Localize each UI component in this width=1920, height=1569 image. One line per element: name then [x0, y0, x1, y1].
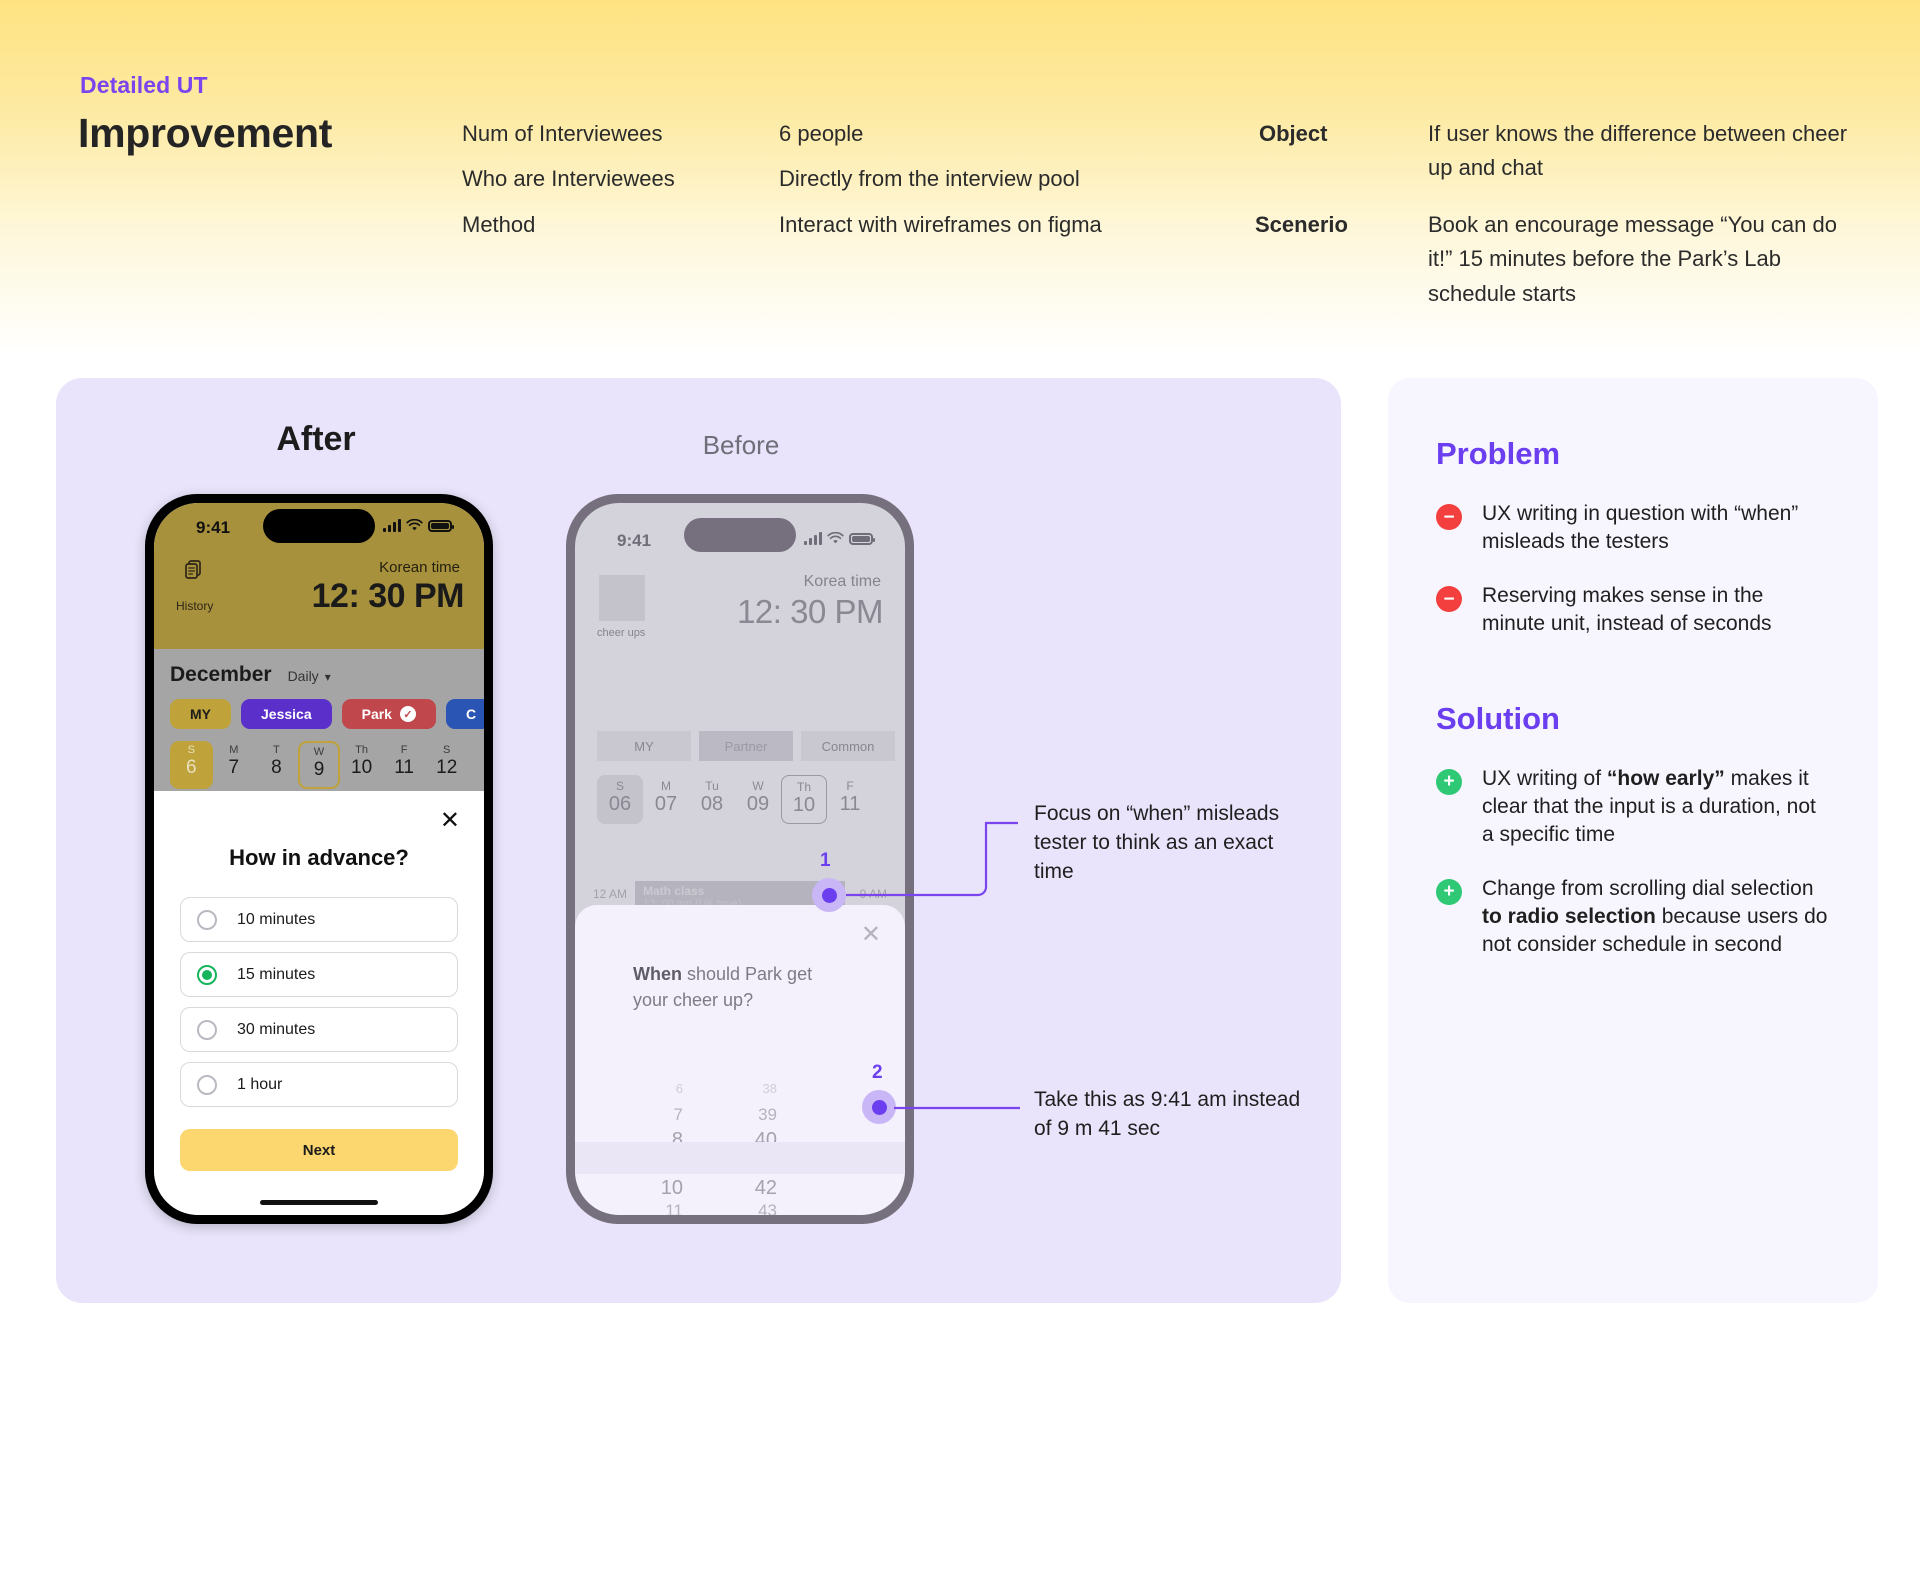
wifi-icon	[406, 519, 423, 532]
dot-core	[872, 1100, 887, 1115]
day-of-week: W	[735, 779, 781, 793]
option-30-minutes[interactable]: 30 minutes	[180, 1007, 458, 1052]
chip-label: Jessica	[261, 706, 312, 722]
chip-label: Park	[362, 706, 392, 722]
calendar-month: December	[170, 663, 272, 687]
meta-label-scenerio: Scenerio	[1255, 208, 1348, 242]
radio-icon	[197, 1020, 217, 1040]
dial-minute: 7	[575, 1105, 683, 1125]
day-of-week: F	[383, 744, 426, 756]
dial-selection-band	[575, 1142, 905, 1174]
close-icon[interactable]: ✕	[861, 923, 881, 947]
day-of-week: M	[213, 744, 256, 756]
tab-label: Partner	[725, 739, 768, 754]
meta-value-object: If user knows the difference between che…	[1428, 117, 1848, 186]
day-cell[interactable]: W09	[735, 775, 781, 824]
solution-item: + Change from scrolling dial selection t…	[1436, 875, 1830, 959]
korea-time-clock: 12: 30 PM	[737, 593, 883, 631]
event-title: Math class	[643, 884, 837, 898]
day-number: 11	[827, 793, 873, 816]
day-cell[interactable]: M7	[213, 741, 256, 789]
korean-time-label: Korean time	[379, 559, 460, 576]
annotation-text-2: Take this as 9:41 am instead of 9 m 41 s…	[1034, 1086, 1314, 1144]
meta-value-method: Interact with wireframes on figma	[779, 208, 1102, 242]
before-column-label: Before	[571, 430, 911, 461]
tab-common[interactable]: Common	[801, 731, 895, 761]
status-time: 9:41	[196, 518, 230, 538]
calendar-header: December Daily▾	[170, 663, 468, 687]
before-tab-row: MY Partner Common	[597, 731, 895, 761]
problem-solution-panel: Problem − UX writing in question with “w…	[1388, 378, 1878, 1303]
after-column-label: After	[146, 420, 486, 459]
day-cell[interactable]: Tu08	[689, 775, 735, 824]
day-of-week: T	[255, 744, 298, 756]
dial-minute: 11	[575, 1201, 683, 1215]
day-cell[interactable]: M07	[643, 775, 689, 824]
day-of-week: S	[170, 744, 213, 756]
person-chip-my[interactable]: MY	[170, 699, 231, 729]
problem-item: − Reserving makes sense in the minute un…	[1436, 582, 1830, 638]
dot-core	[822, 888, 837, 903]
dynamic-island	[263, 509, 375, 543]
problem-text: Reserving makes sense in the minute unit…	[1482, 582, 1830, 638]
plus-icon: +	[1436, 769, 1462, 795]
after-calendar-strip: December Daily▾ MY Jessica Park✓ C S6 M7…	[154, 649, 484, 791]
cheer-ups-label: cheer ups	[597, 627, 645, 639]
meta-label-method: Method	[462, 208, 535, 242]
day-of-week: M	[643, 779, 689, 793]
day-number: 10	[340, 757, 383, 779]
option-label: 30 minutes	[237, 1021, 315, 1039]
person-chip-row: MY Jessica Park✓ C	[170, 699, 468, 729]
calendar-view-mode[interactable]: Daily▾	[288, 668, 331, 684]
before-status-time: 9:41	[617, 531, 651, 551]
header-band: Detailed UT Improvement Num of Interview…	[0, 0, 1920, 352]
day-number: 08	[689, 793, 735, 816]
battery-icon	[428, 520, 452, 532]
solution-item: + UX writing of “how early” makes it cle…	[1436, 765, 1830, 849]
close-icon[interactable]: ✕	[440, 809, 460, 833]
solution-list: + UX writing of “how early” makes it cle…	[1436, 765, 1830, 960]
radio-icon	[197, 1075, 217, 1095]
tab-partner[interactable]: Partner	[699, 731, 793, 761]
home-indicator	[260, 1200, 378, 1205]
chevron-down-icon: ▾	[325, 670, 331, 684]
person-chip-common[interactable]: C	[446, 699, 484, 729]
question-bold: When	[633, 964, 682, 984]
day-number: 06	[597, 793, 643, 816]
page-title: Improvement	[78, 110, 332, 157]
option-1-hour[interactable]: 1 hour	[180, 1062, 458, 1107]
check-icon: ✓	[400, 706, 416, 722]
person-chip-park[interactable]: Park✓	[342, 699, 436, 729]
problem-text: UX writing in question with “when” misle…	[1482, 500, 1830, 556]
solution-pre: UX writing of	[1482, 767, 1607, 790]
day-of-week: Th	[340, 744, 383, 756]
history-label: History	[176, 599, 213, 613]
radio-icon-selected	[197, 965, 217, 985]
option-label: 1 hour	[237, 1076, 282, 1094]
day-number: 07	[643, 793, 689, 816]
problem-heading: Problem	[1436, 436, 1830, 472]
after-phone-screen: 9:41	[154, 503, 484, 1215]
solution-bold: to radio selection	[1482, 905, 1656, 928]
before-status-icons	[804, 532, 873, 545]
chip-label: C	[466, 706, 476, 722]
tab-my[interactable]: MY	[597, 731, 691, 761]
solution-text: UX writing of “how early” makes it clear…	[1482, 765, 1830, 849]
meta-label-object: Object	[1259, 117, 1327, 151]
before-sheet-question: When should Park get your cheer up?	[633, 961, 833, 1013]
meta-label-who-interviewees: Who are Interviewees	[462, 162, 675, 196]
day-cell[interactable]: W9	[298, 741, 341, 789]
problem-item: − UX writing in question with “when” mis…	[1436, 500, 1830, 556]
korean-time-clock: 12: 30 PM	[312, 577, 464, 616]
wifi-icon	[827, 532, 844, 545]
day-number: 8	[255, 757, 298, 779]
next-button-label: Next	[303, 1142, 336, 1159]
dial-second: 39	[719, 1105, 777, 1125]
before-dynamic-island	[684, 518, 796, 552]
korea-time-label: Korea time	[804, 573, 881, 591]
cellular-signal-icon	[383, 519, 401, 532]
day-number: 12	[425, 757, 468, 779]
after-phone-mockup: 9:41	[145, 494, 493, 1224]
dial-minute: 6	[575, 1081, 683, 1096]
day-strip: S6 M7 T8 W9 Th10 F11 S12	[170, 741, 468, 789]
annotation-dot-2[interactable]	[862, 1090, 896, 1124]
option-label: 15 minutes	[237, 966, 315, 984]
plus-icon: +	[1436, 879, 1462, 905]
before-day-strip: S06 M07 Tu08 W09 Th10 F11	[597, 775, 873, 824]
day-of-week: S	[425, 744, 468, 756]
day-cell[interactable]: Th10	[781, 775, 827, 824]
solution-heading: Solution	[1436, 701, 1830, 737]
sheet-title: How in advance?	[180, 845, 458, 871]
poster-page: Detailed UT Improvement Num of Interview…	[0, 0, 1920, 1569]
day-cell[interactable]: T8	[255, 741, 298, 789]
day-of-week: F	[827, 779, 873, 793]
view-mode-label: Daily	[288, 668, 319, 684]
person-chip-jessica[interactable]: Jessica	[241, 699, 332, 729]
battery-icon	[849, 533, 873, 545]
option-10-minutes[interactable]: 10 minutes	[180, 897, 458, 942]
day-number: 6	[170, 757, 213, 779]
how-in-advance-sheet: ✕ How in advance? 10 minutes 15 minutes …	[154, 791, 484, 1215]
meta-value-who-interviewees: Directly from the interview pool	[779, 162, 1080, 196]
next-button[interactable]: Next	[180, 1129, 458, 1171]
cheer-ups-thumbnail[interactable]	[599, 575, 645, 621]
dial-second: 38	[719, 1081, 777, 1096]
day-cell[interactable]: S12	[425, 741, 468, 789]
annotation-number-2: 2	[872, 1062, 883, 1084]
radio-icon	[197, 910, 217, 930]
minus-icon: −	[1436, 586, 1462, 612]
day-cell[interactable]: S6	[170, 741, 213, 789]
meta-label-num-interviewees: Num of Interviewees	[462, 117, 663, 151]
day-cell[interactable]: F11	[383, 741, 426, 789]
day-number: 10	[782, 794, 826, 817]
day-of-week: S	[597, 779, 643, 793]
annotation-connector-1	[840, 815, 1020, 905]
solution-bold: “how early”	[1607, 767, 1725, 790]
annotation-text-1: Focus on “when” misleads tester to think…	[1034, 800, 1304, 887]
day-number: 09	[735, 793, 781, 816]
dial-second: 42	[719, 1177, 777, 1200]
day-cell[interactable]: Th10	[340, 741, 383, 789]
day-cell[interactable]: S06	[597, 775, 643, 824]
dial-second: 43	[719, 1201, 777, 1215]
annotation-number-1: 1	[820, 850, 831, 872]
after-status-bar: 9:41	[154, 503, 484, 551]
cellular-signal-icon	[804, 532, 822, 545]
solution-pre: Change from scrolling dial selection	[1482, 877, 1814, 900]
status-icons	[383, 519, 452, 532]
tab-label: Common	[822, 739, 875, 754]
after-phone-header: 9:41	[154, 503, 484, 649]
solution-text: Change from scrolling dial selection to …	[1482, 875, 1830, 959]
day-number: 9	[300, 759, 339, 781]
option-15-minutes[interactable]: 15 minutes	[180, 952, 458, 997]
day-of-week: Tu	[689, 779, 735, 793]
option-label: 10 minutes	[237, 911, 315, 929]
problem-list: − UX writing in question with “when” mis…	[1436, 500, 1830, 639]
history-icon[interactable]	[182, 558, 206, 587]
day-of-week: Th	[782, 780, 826, 794]
day-number: 11	[383, 757, 426, 779]
meta-value-num-interviewees: 6 people	[779, 117, 863, 151]
tab-label: MY	[634, 739, 654, 754]
eyebrow-label: Detailed UT	[80, 72, 208, 99]
before-when-sheet: ✕ When should Park get your cheer up? 63…	[575, 905, 905, 1215]
day-of-week: W	[300, 746, 339, 758]
minus-icon: −	[1436, 504, 1462, 530]
timeline-start-label: 12 AM	[593, 887, 627, 901]
annotation-connector-2	[892, 1098, 1022, 1122]
dial-minute: 10	[575, 1177, 683, 1200]
meta-value-scenerio: Book an encourage message “You can do it…	[1428, 208, 1858, 311]
option-list: 10 minutes 15 minutes 30 minutes 1 hour	[180, 897, 458, 1107]
scrolling-dial[interactable]: 638 739 840 9 m 41 s Before 1042 1143 12…	[575, 1081, 905, 1215]
day-number: 7	[213, 757, 256, 779]
chip-label: MY	[190, 706, 211, 722]
